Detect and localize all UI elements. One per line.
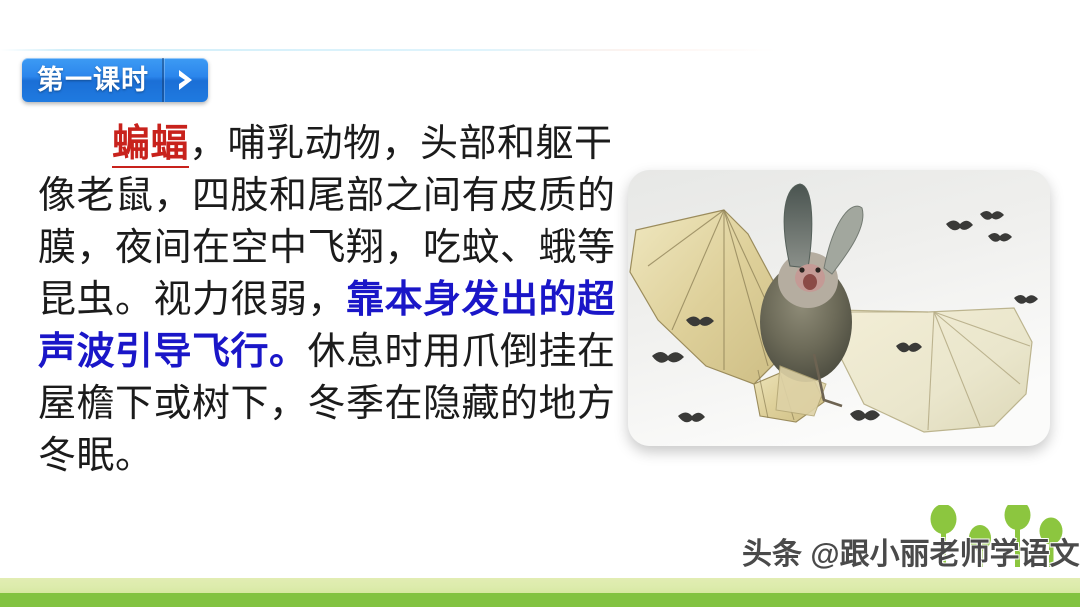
slide-canvas: 第一课时 蝙蝠，哺乳动物，头部和躯干像老鼠，四肢和尾部之间有皮质的膜，夜间在空中… xyxy=(0,0,1080,607)
passage-text: 蝙蝠，哺乳动物，头部和躯干像老鼠，四肢和尾部之间有皮质的膜，夜间在空中飞翔，吃蚊… xyxy=(38,118,638,482)
footer-band-dark xyxy=(0,593,1080,607)
keyword-bat: 蝙蝠 xyxy=(112,123,189,168)
lesson-section-button[interactable]: 第一课时 xyxy=(22,58,208,102)
watermark: 头条 @跟小丽老师学语文 xyxy=(742,505,1068,577)
lesson-section-label: 第一课时 xyxy=(22,58,162,102)
bat-photo xyxy=(628,170,1050,446)
chevron-right-icon[interactable] xyxy=(164,58,208,102)
watermark-text: 头条 @跟小丽老师学语文 xyxy=(742,529,1068,573)
footer-band-light xyxy=(0,578,1080,594)
top-hairline-divider xyxy=(0,49,1080,51)
